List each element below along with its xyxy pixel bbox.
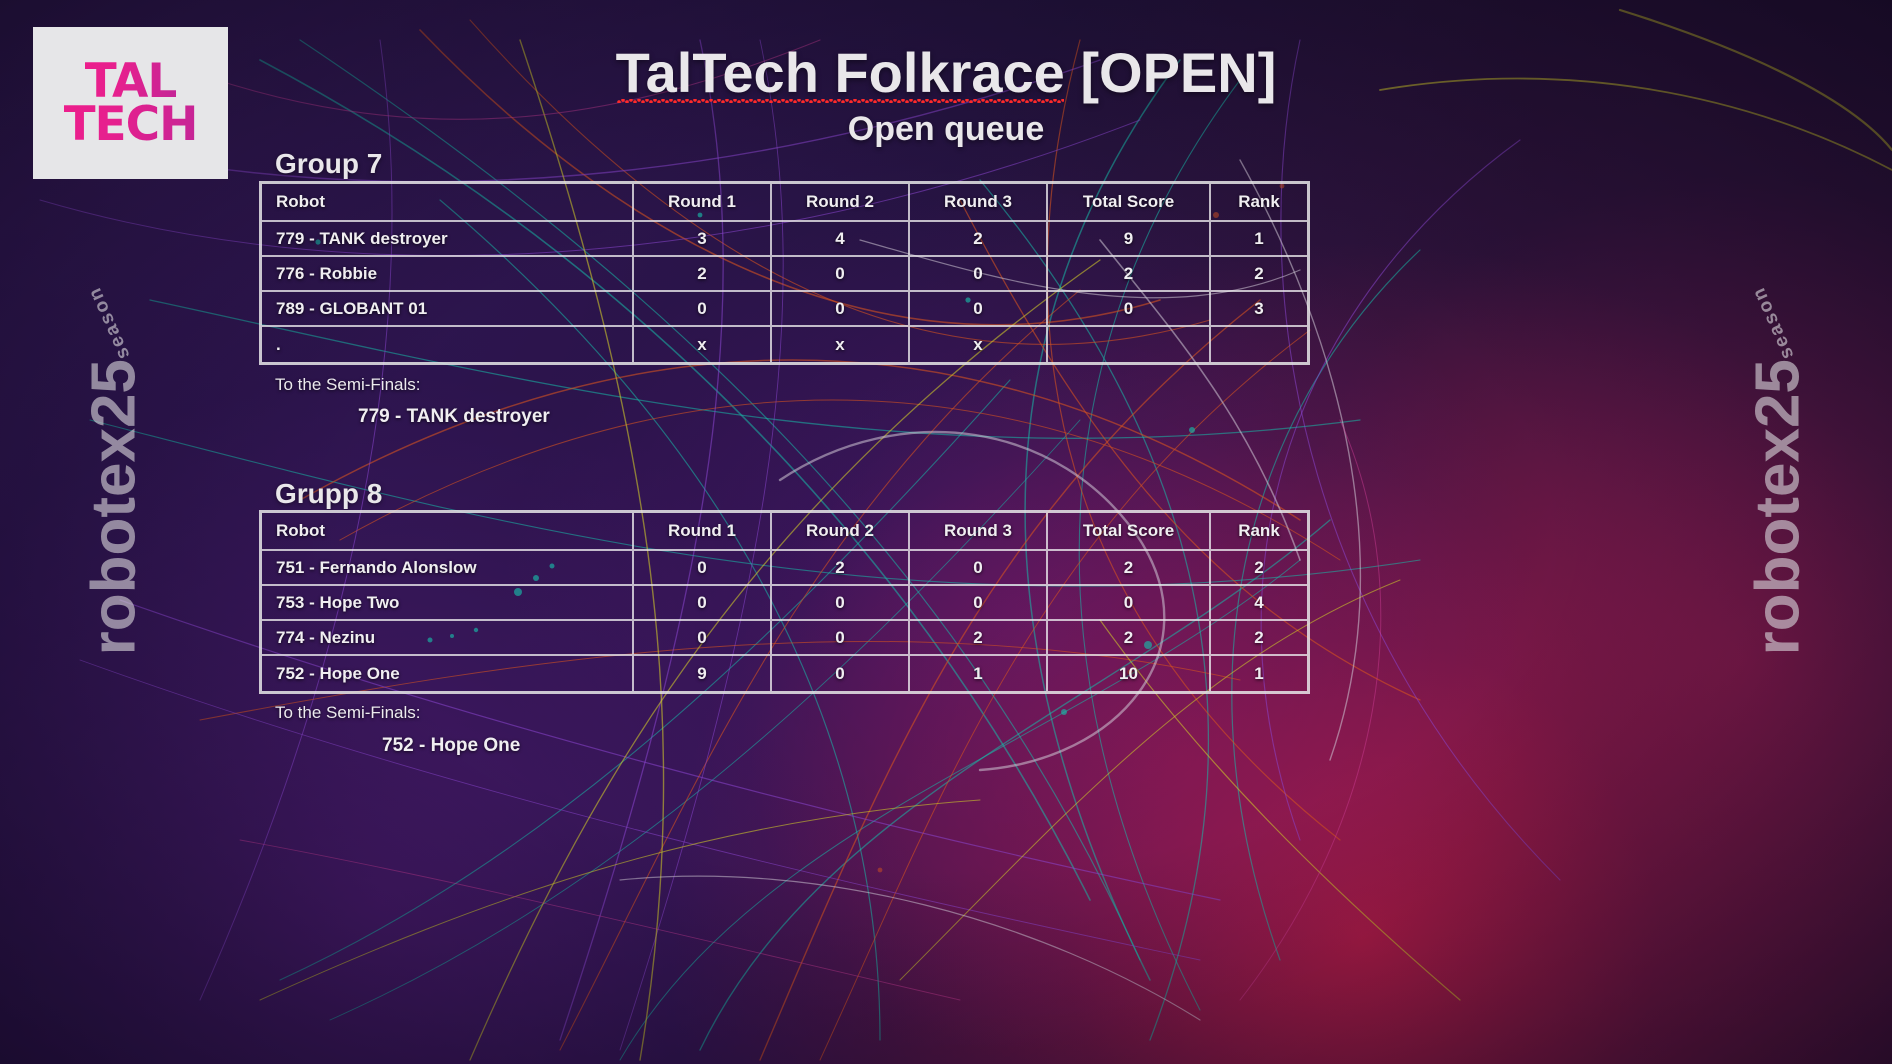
cell-round-2: 0	[772, 621, 910, 656]
watermark-left-season: season	[84, 282, 136, 362]
column-header-total-score: Total Score	[1048, 184, 1211, 222]
watermark-right: robotex25 season	[1743, 276, 1814, 656]
cell-rank: 1	[1211, 656, 1307, 691]
column-header-round-2: Round 2	[772, 513, 910, 551]
cell-round-2: 0	[772, 656, 910, 691]
watermark-right-season: season	[1748, 282, 1800, 362]
cell-rank: 2	[1211, 257, 1307, 292]
cell-rank: 4	[1211, 586, 1307, 621]
cell-round-2: 0	[772, 257, 910, 292]
group-heading-2: Grupp 8	[275, 478, 382, 510]
cell-round-3: 0	[910, 292, 1048, 327]
semifinals-qualifier-1: 779 - TANK destroyer	[358, 406, 550, 428]
cell-total: 2	[1048, 621, 1211, 656]
cell-rank: 1	[1211, 222, 1307, 257]
table-row: 779 - TANK destroyer 3 4 2 9 1	[262, 222, 1307, 257]
cell-robot: 774 - Nezinu	[262, 621, 634, 656]
cell-round-1: 2	[634, 257, 772, 292]
cell-round-1: 0	[634, 586, 772, 621]
column-header-round-1: Round 1	[634, 513, 772, 551]
cell-rank	[1211, 327, 1307, 362]
column-header-round-3: Round 3	[910, 184, 1048, 222]
cell-rank: 2	[1211, 621, 1307, 656]
column-header-robot: Robot	[262, 513, 634, 551]
cell-round-2: 0	[772, 292, 910, 327]
column-header-total-score: Total Score	[1048, 513, 1211, 551]
table-row: 774 - Nezinu 0 0 2 2 2	[262, 621, 1307, 656]
column-header-round-1: Round 1	[634, 184, 772, 222]
page-title-suffix: [OPEN]	[1065, 41, 1277, 104]
cell-total: 0	[1048, 292, 1211, 327]
column-header-rank: Rank	[1211, 513, 1307, 551]
cell-round-3: 0	[910, 586, 1048, 621]
cell-round-3: x	[910, 327, 1048, 362]
page-title: TalTech Folkrace [OPEN]	[0, 40, 1892, 105]
page-subtitle: Open queue	[0, 110, 1892, 149]
cell-total: 10	[1048, 656, 1211, 691]
table-row: . x x x	[262, 327, 1307, 362]
semifinals-label-1: To the Semi-Finals:	[275, 375, 421, 395]
cell-total: 9	[1048, 222, 1211, 257]
watermark-left: robotex25 season	[78, 276, 149, 656]
column-header-robot: Robot	[262, 184, 634, 222]
cell-round-2: x	[772, 327, 910, 362]
cell-robot: .	[262, 327, 634, 362]
cell-total	[1048, 327, 1211, 362]
cell-round-2: 4	[772, 222, 910, 257]
cell-robot: 789 - GLOBANT 01	[262, 292, 634, 327]
column-header-rank: Rank	[1211, 184, 1307, 222]
cell-round-1: 9	[634, 656, 772, 691]
cell-round-1: 0	[634, 551, 772, 586]
cell-robot: 776 - Robbie	[262, 257, 634, 292]
cell-total: 0	[1048, 586, 1211, 621]
watermark-left-text: robotex25	[78, 359, 149, 655]
cell-rank: 3	[1211, 292, 1307, 327]
results-table-group-7: Robot Round 1 Round 2 Round 3 Total Scor…	[262, 184, 1307, 362]
column-header-round-3: Round 3	[910, 513, 1048, 551]
page-title-main: TalTech Folkrace	[616, 40, 1065, 105]
cell-round-3: 0	[910, 551, 1048, 586]
table-row: 752 - Hope One 9 0 1 10 1	[262, 656, 1307, 691]
table-row: 753 - Hope Two 0 0 0 0 4	[262, 586, 1307, 621]
cell-round-1: x	[634, 327, 772, 362]
slide-root: TAL TECH robotex25 season robotex25 seas…	[0, 0, 1892, 1064]
table-row: 776 - Robbie 2 0 0 2 2	[262, 257, 1307, 292]
cell-robot: 753 - Hope Two	[262, 586, 634, 621]
table-row: 789 - GLOBANT 01 0 0 0 0 3	[262, 292, 1307, 327]
table-header-row: Robot Round 1 Round 2 Round 3 Total Scor…	[262, 513, 1307, 551]
cell-round-3: 0	[910, 257, 1048, 292]
cell-total: 2	[1048, 551, 1211, 586]
cell-round-3: 1	[910, 656, 1048, 691]
column-header-round-2: Round 2	[772, 184, 910, 222]
cell-round-3: 2	[910, 621, 1048, 656]
cell-robot: 751 - Fernando Alonslow	[262, 551, 634, 586]
cell-round-2: 2	[772, 551, 910, 586]
table-header-row: Robot Round 1 Round 2 Round 3 Total Scor…	[262, 184, 1307, 222]
cell-round-2: 0	[772, 586, 910, 621]
cell-robot: 779 - TANK destroyer	[262, 222, 634, 257]
group-heading-1: Group 7	[275, 148, 382, 180]
cell-round-1: 3	[634, 222, 772, 257]
cell-rank: 2	[1211, 551, 1307, 586]
results-table-grupp-8: Robot Round 1 Round 2 Round 3 Total Scor…	[262, 513, 1307, 691]
cell-total: 2	[1048, 257, 1211, 292]
semifinals-label-2: To the Semi-Finals:	[275, 703, 421, 723]
semifinals-qualifier-2: 752 - Hope One	[382, 735, 520, 757]
table-row: 751 - Fernando Alonslow 0 2 0 2 2	[262, 551, 1307, 586]
cell-round-1: 0	[634, 621, 772, 656]
cell-round-3: 2	[910, 222, 1048, 257]
watermark-right-text: robotex25	[1743, 359, 1814, 655]
cell-round-1: 0	[634, 292, 772, 327]
cell-robot: 752 - Hope One	[262, 656, 634, 691]
